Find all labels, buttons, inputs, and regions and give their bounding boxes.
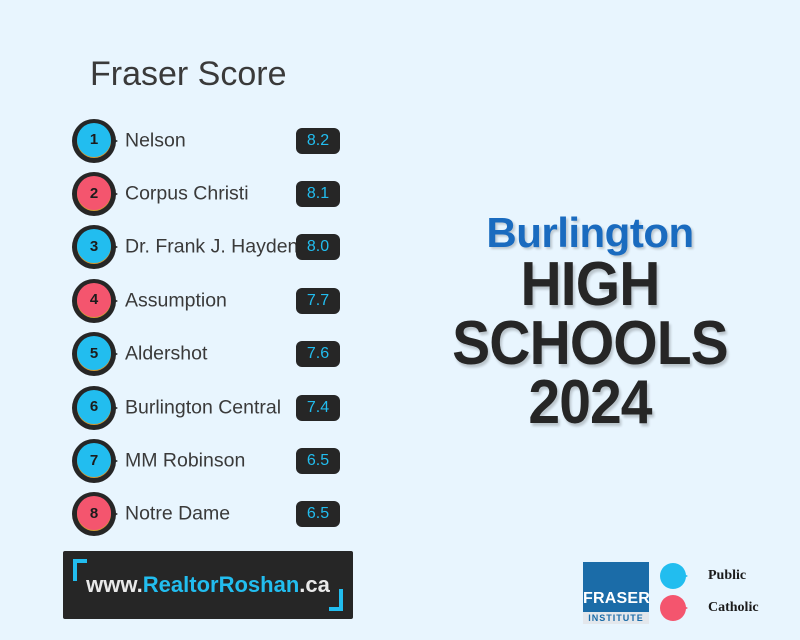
rank-pin-icon: 4 — [72, 279, 118, 323]
score-badge: 8.2 — [296, 128, 340, 154]
legend-item: Public — [660, 560, 790, 592]
school-ranking-list: 1Nelson8.22Corpus Christi8.13Dr. Frank J… — [0, 114, 400, 541]
school-row: 4Assumption7.7 — [0, 274, 400, 327]
url-tld: .ca — [299, 572, 330, 597]
school-name: Aldershot — [125, 343, 207, 366]
infographic-title-block: Burlington HIGH SCHOOLS 2024 — [380, 212, 800, 433]
school-row: 7MM Robinson6.5 — [0, 434, 400, 487]
score-badge: 7.6 — [296, 341, 340, 367]
rank-pin-icon: 6 — [72, 386, 118, 430]
website-url: www.RealtorRoshan.ca — [63, 572, 353, 598]
score-badge: 6.5 — [296, 501, 340, 527]
url-prefix: www. — [86, 572, 143, 597]
legend-pin-icon — [660, 563, 700, 589]
url-domain: RealtorRoshan — [143, 572, 299, 597]
left-panel: Fraser Score 1Nelson8.22Corpus Christi8.… — [0, 0, 400, 640]
title-year: 2024 — [397, 374, 783, 433]
legend-item: Catholic — [660, 592, 790, 624]
rank-number: 6 — [77, 390, 111, 424]
rank-pin-icon: 5 — [72, 332, 118, 376]
score-badge: 6.5 — [296, 448, 340, 474]
rank-number: 7 — [77, 443, 111, 477]
rank-pin-icon: 3 — [72, 225, 118, 269]
logo-strip: INSTITUTE — [583, 612, 649, 624]
school-row: 1Nelson8.2 — [0, 114, 400, 167]
legend-pin-icon — [660, 595, 700, 621]
school-name: Burlington Central — [125, 396, 281, 419]
school-name: MM Robinson — [125, 450, 245, 473]
school-row: 5Aldershot7.6 — [0, 328, 400, 381]
school-row: 2Corpus Christi8.1 — [0, 167, 400, 220]
score-badge: 7.4 — [296, 395, 340, 421]
school-name: Corpus Christi — [125, 183, 249, 206]
score-badge: 8.1 — [296, 181, 340, 207]
school-row: 8Notre Dame6.5 — [0, 488, 400, 541]
school-name: Dr. Frank J. Hayden — [125, 236, 298, 259]
rank-number: 5 — [77, 336, 111, 370]
school-name: Nelson — [125, 129, 186, 152]
score-badge: 7.7 — [296, 288, 340, 314]
rank-number: 2 — [77, 176, 111, 210]
logo-box: FRASER — [583, 562, 649, 612]
school-type-legend: PublicCatholic — [660, 560, 790, 624]
title-main: HIGH SCHOOLS — [397, 256, 783, 374]
rank-pin-icon: 2 — [72, 172, 118, 216]
logo-institute-text: INSTITUTE — [583, 612, 649, 624]
rank-number: 3 — [77, 229, 111, 263]
legend-pin-body-icon — [660, 595, 686, 621]
legend-pin-body-icon — [660, 563, 686, 589]
logo-fraser-text: FRASER — [583, 590, 649, 608]
title-city: Burlington — [380, 212, 800, 254]
fraser-institute-logo: FRASER INSTITUTE — [583, 562, 649, 624]
page-title: Fraser Score — [90, 55, 287, 94]
rank-pin-icon: 7 — [72, 439, 118, 483]
rank-pin-icon: 8 — [72, 492, 118, 536]
rank-number: 1 — [77, 123, 111, 157]
rank-number: 8 — [77, 496, 111, 530]
rank-number: 4 — [77, 283, 111, 317]
school-name: Assumption — [125, 289, 227, 312]
school-row: 3Dr. Frank J. Hayden8.0 — [0, 221, 400, 274]
school-row: 6Burlington Central7.4 — [0, 381, 400, 434]
school-name: Notre Dame — [125, 503, 230, 526]
score-badge: 8.0 — [296, 234, 340, 260]
rank-pin-icon: 1 — [72, 119, 118, 163]
legend-label: Catholic — [708, 600, 759, 616]
realtor-brand-bar[interactable]: www.RealtorRoshan.ca — [63, 551, 353, 619]
legend-label: Public — [708, 568, 746, 584]
